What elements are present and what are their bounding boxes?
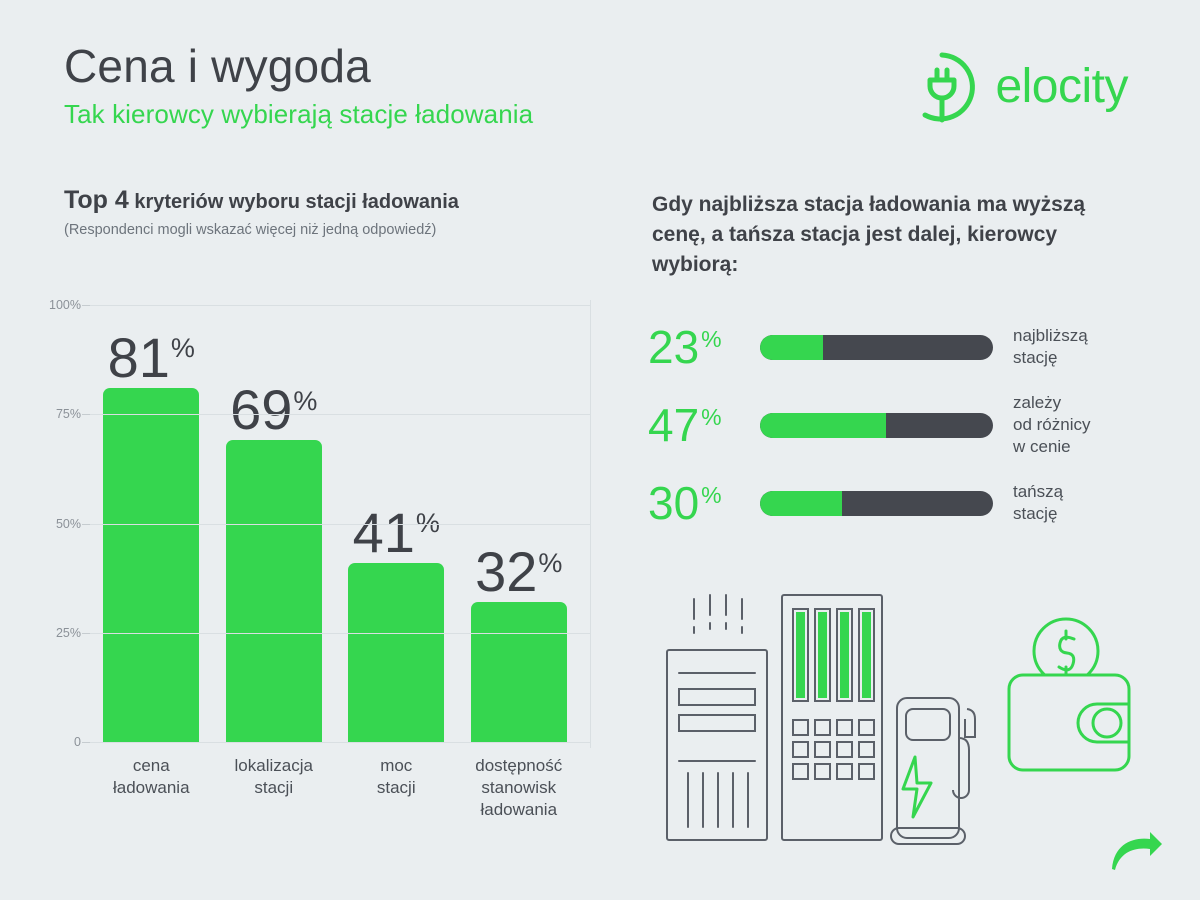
chart-bar-value-label: 69% [230, 382, 317, 438]
chart-y-tick-label: 25% [56, 626, 81, 640]
preference-percent-sign: % [701, 326, 721, 352]
chart-x-label-line: stacji [335, 777, 458, 799]
chart-plot-area: 81%69%41%32% 100%75%50%25%0 [90, 305, 590, 742]
chart-bar-value: 32 [475, 540, 537, 603]
preference-value: 23% [648, 324, 760, 370]
preference-label: najbliższąstację [1013, 325, 1088, 369]
chart-gridline: 0 [90, 742, 590, 743]
preference-label-line: najbliższą [1013, 325, 1088, 347]
chart-bar-percent-sign: % [293, 386, 317, 416]
chart-x-label-line: ładowania [458, 799, 581, 821]
preference-label-line: stację [1013, 347, 1088, 369]
logo-wordmark: elocity [995, 63, 1128, 111]
chart-tick-mark [82, 742, 90, 743]
chart-gridline: 50% [90, 524, 590, 525]
chart-title: Top 4 kryteriów wyboru stacji ładowania [64, 186, 584, 215]
chart-tick-mark [82, 414, 90, 415]
wallet-with-coin-icon [1009, 619, 1129, 770]
chart-x-label-line: lokalizacja [213, 755, 336, 777]
chart-tick-mark [82, 305, 90, 306]
curved-arrow-right-icon [1108, 829, 1164, 878]
chart-x-axis-labels: cenaładowanialokalizacjastacjimocstacjid… [90, 755, 580, 820]
header: Cena i wygoda Tak kierowcy wybierają sta… [64, 40, 533, 130]
chart-bar-value: 69 [230, 378, 292, 441]
infographic-root: Cena i wygoda Tak kierowcy wybierają sta… [0, 0, 1200, 900]
preference-progress-track[interactable] [760, 491, 993, 516]
chart-bar-percent-sign: % [538, 548, 562, 578]
preference-progress-fill [760, 335, 823, 360]
chart-x-label: dostępnośćstanowiskładowania [458, 755, 581, 820]
chart-x-label-line: stanowisk [458, 777, 581, 799]
chart-gridline: 75% [90, 414, 590, 415]
chart-x-label: lokalizacjastacji [213, 755, 336, 820]
chart-bar-percent-sign: % [171, 333, 195, 363]
chart-gridline: 25% [90, 633, 590, 634]
chart-y-tick-label: 0 [74, 735, 81, 749]
brand-logo: elocity [905, 50, 1128, 124]
preference-label-line: zależy [1013, 392, 1090, 414]
chart-x-label-line: ładowania [90, 777, 213, 799]
preference-label-line: w cenie [1013, 436, 1090, 458]
preference-list: 23%najbliższąstację47%zależyod różnicyw … [648, 308, 1168, 542]
preference-row: 47%zależyod różnicyw cenie [648, 386, 1168, 464]
ev-charging-pump-icon [891, 698, 975, 844]
chart-bar[interactable]: 69% [226, 440, 322, 742]
preference-percent-sign: % [701, 482, 721, 508]
chart-bar-value: 41 [353, 501, 415, 564]
preference-label-line: stację [1013, 503, 1063, 525]
chart-note: (Respondenci mogli wskazać więcej niż je… [64, 222, 584, 238]
preference-number: 23 [648, 321, 699, 373]
chart-x-label-line: dostępność [458, 755, 581, 777]
chart-bar-value-label: 32% [475, 544, 562, 600]
chart-x-label: cenaładowania [90, 755, 213, 820]
chart-gridline: 100% [90, 305, 590, 306]
preference-label: zależyod różnicyw cenie [1013, 392, 1090, 458]
preference-progress-fill [760, 413, 886, 438]
page-subtitle: Tak kierowcy wybierają stacje ładowania [64, 99, 533, 130]
chart-y-tick-label: 50% [56, 517, 81, 531]
chart-bar-value-label: 41% [353, 505, 440, 561]
left-panel-header: Top 4 kryteriów wyboru stacji ładowania … [64, 186, 584, 238]
chart-tick-mark [82, 633, 90, 634]
plug-in-circle-icon [905, 50, 979, 124]
chart-title-rest: kryteriów wyboru stacji ładowania [129, 191, 459, 213]
preference-label-line: tańszą [1013, 481, 1063, 503]
chart-x-label-line: cena [90, 755, 213, 777]
preference-percent-sign: % [701, 404, 721, 430]
preference-label-line: od różnicy [1013, 414, 1090, 436]
bar-chart: 81%69%41%32% 100%75%50%25%0 cenaładowani… [44, 295, 590, 750]
chart-x-label-line: stacji [213, 777, 336, 799]
chart-x-label-line: moc [335, 755, 458, 777]
right-panel-title: Gdy najbliższa stacja ładowania ma wyższ… [652, 190, 1142, 279]
page-title: Cena i wygoda [64, 40, 533, 93]
preference-progress-fill [760, 491, 842, 516]
chart-y-tick-label: 100% [49, 298, 81, 312]
chart-bar[interactable]: 81% [103, 388, 199, 742]
chart-bar-value: 81 [108, 326, 170, 389]
preference-value: 47% [648, 402, 760, 448]
preference-row: 23%najbliższąstację [648, 308, 1168, 386]
preference-progress-track[interactable] [760, 413, 993, 438]
right-panel-header: Gdy najbliższa stacja ładowania ma wyższ… [652, 190, 1142, 279]
preference-row: 30%tańsząstację [648, 464, 1168, 542]
preference-progress-track[interactable] [760, 335, 993, 360]
receipt-document-icon [667, 595, 767, 840]
preference-number: 30 [648, 477, 699, 529]
chart-bar[interactable]: 41% [348, 563, 444, 742]
chart-title-strong: Top 4 [64, 186, 129, 214]
illustration [648, 585, 1178, 870]
preference-number: 47 [648, 399, 699, 451]
chart-tick-mark [82, 524, 90, 525]
charging-cabinet-icon [782, 595, 882, 840]
chart-bar[interactable]: 32% [471, 602, 567, 742]
preference-value: 30% [648, 480, 760, 526]
column-divider [590, 300, 591, 748]
chart-x-label: mocstacji [335, 755, 458, 820]
chart-bar-value-label: 81% [108, 330, 195, 386]
preference-label: tańsząstację [1013, 481, 1063, 525]
chart-y-tick-label: 75% [56, 407, 81, 421]
